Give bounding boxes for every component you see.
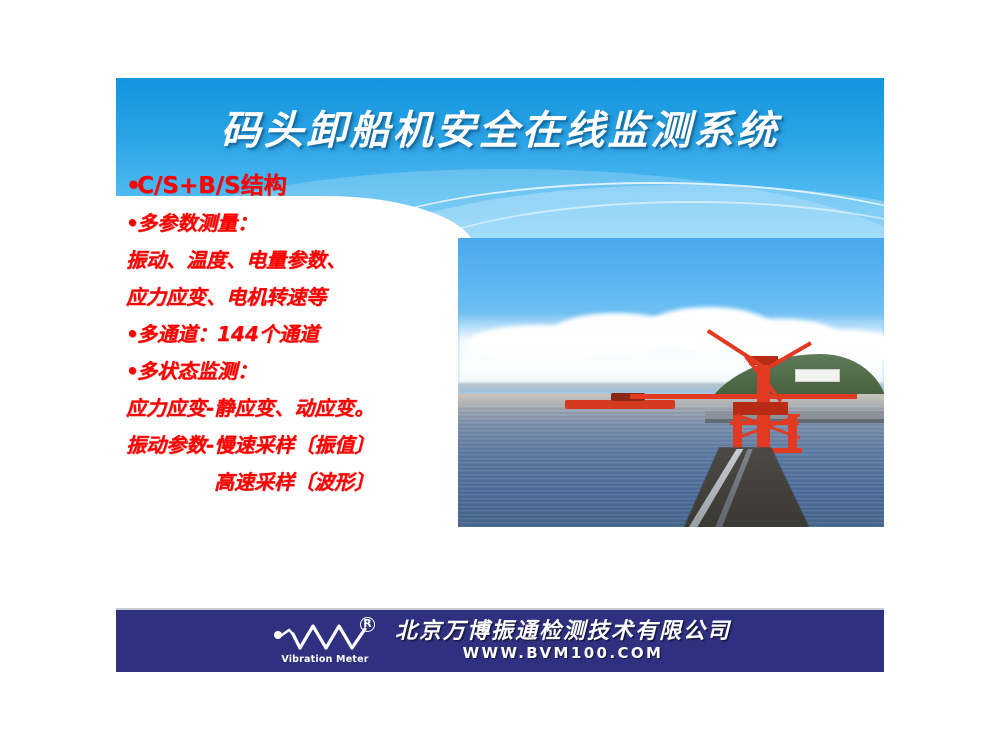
bullet-item: 振动、温度、电量参数、: [126, 242, 476, 279]
bullet-text: 振动、温度、电量参数、: [126, 248, 346, 272]
bullet-text: 应力应变-静应变、动应变。: [126, 396, 374, 420]
footer-bar: R Vibration Meter 北京万博振通检测技术有限公司 WWW.BVM…: [116, 608, 884, 672]
bullet-list: •C/S+B/S结构 •多参数测量： 振动、温度、电量参数、 应力应变、电机转速…: [126, 168, 476, 501]
bullet-item: 高速采样〔波形〕: [126, 464, 476, 501]
bullet-text: 多通道：144个通道: [137, 322, 319, 346]
bullet-item: •多通道：144个通道: [126, 316, 476, 353]
bullet-text: 高速采样〔波形〕: [214, 470, 374, 494]
company-name: 北京万博振通检测技术有限公司: [395, 620, 731, 643]
bullet-item: 振动参数-慢速采样〔振值〕: [126, 427, 476, 464]
bullet-text: 应力应变、电机转速等: [126, 285, 326, 309]
photo-red-barge: [565, 400, 676, 409]
bullet-marker: •: [126, 205, 137, 242]
bullet-item: 应力应变、电机转速等: [126, 279, 476, 316]
bullet-text: 多状态监测：: [137, 359, 257, 383]
bullet-marker: •: [126, 168, 137, 205]
slide-title: 码头卸船机安全在线监测系统: [116, 98, 884, 156]
crane-signboard: [795, 369, 840, 382]
footer-text-block: 北京万博振通检测技术有限公司 WWW.BVM100.COM: [395, 620, 731, 662]
bullet-text: C/S+B/S结构: [137, 173, 287, 199]
crane-boom: [630, 394, 857, 399]
company-logo: R Vibration Meter: [269, 617, 381, 665]
bullet-item: 应力应变-静应变、动应变。: [126, 390, 476, 427]
company-website: WWW.BVM100.COM: [463, 646, 664, 662]
bullet-text: 多参数测量：: [137, 211, 257, 235]
bullet-text: 振动参数-慢速采样〔振值〕: [126, 433, 374, 457]
registered-trademark-icon: R: [360, 617, 375, 632]
crane-machinery-house: [733, 402, 788, 414]
bullet-marker: •: [126, 353, 137, 390]
footer-content: R Vibration Meter 北京万博振通检测技术有限公司 WWW.BVM…: [116, 610, 884, 672]
bullet-item: •多状态监测：: [126, 353, 476, 390]
bullet-item: •多参数测量：: [126, 205, 476, 242]
logo-subtitle: Vibration Meter: [273, 654, 377, 665]
slide-canvas: 码头卸船机安全在线监测系统: [0, 0, 1000, 750]
ship-unloader-crane: [714, 356, 833, 460]
bullet-item: •C/S+B/S结构: [126, 168, 476, 205]
bullet-marker: •: [126, 316, 137, 353]
harbor-photo: [458, 238, 884, 527]
